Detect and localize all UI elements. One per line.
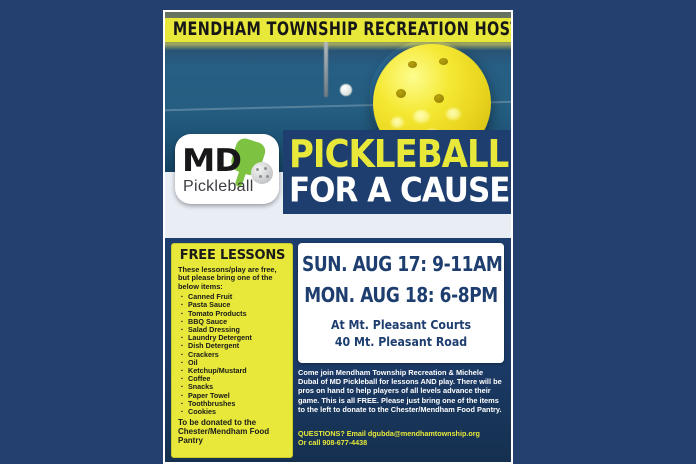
flyer-title-block: PICKLEBALL FOR A CAUSE	[283, 130, 511, 214]
hosts-banner: MENDHAM TOWNSHIP RECREATION HOSTS...	[165, 18, 511, 42]
contact-email-line: QUESTIONS? Email dgubda@mendhamtownship.…	[298, 429, 504, 438]
free-lessons-intro: These lessons/play are free, but please …	[178, 266, 287, 291]
md-pickleball-logo: MD Pickleball	[175, 134, 279, 204]
contact-phone-line: Or call 908-677-4438	[298, 438, 504, 447]
venue-name: At Mt. Pleasant Courts	[302, 317, 500, 334]
page-title: PICKLEBALL	[289, 138, 511, 173]
distant-ball-icon	[340, 84, 352, 96]
logo-initials: MD	[182, 146, 241, 177]
logo-wordmark: Pickleball	[183, 178, 254, 196]
free-lessons-heading: FREE LESSONS	[178, 249, 287, 262]
list-item: Cookies	[188, 408, 287, 416]
donation-destination: To be donated to the Chester/Mendham Foo…	[178, 418, 287, 445]
schedule-card: SUN. AUG 17: 9-11AM MON. AUG 18: 6-8PM A…	[298, 243, 504, 363]
contact-block: QUESTIONS? Email dgubda@mendhamtownship.…	[298, 429, 504, 447]
details-panel: FREE LESSONS These lessons/play are free…	[165, 238, 511, 462]
hosts-banner-text: MENDHAM TOWNSHIP RECREATION HOSTS...	[173, 18, 513, 40]
list-item: Crackers	[188, 351, 287, 359]
logo-ball-icon	[251, 162, 273, 184]
body-copy: Come join Mendham Township Recreation & …	[298, 368, 504, 414]
schedule-date-2: MON. AUG 18: 6-8PM	[302, 282, 500, 312]
donation-items-list: Canned Fruit Pasta Sauce Tomato Products…	[178, 293, 287, 416]
free-lessons-card: FREE LESSONS These lessons/play are free…	[171, 243, 293, 458]
event-flyer: MENDHAM TOWNSHIP RECREATION HOSTS... MD …	[163, 10, 513, 464]
venue-address: 40 Mt. Pleasant Road	[302, 334, 500, 351]
screenshot-canvas: MENDHAM TOWNSHIP RECREATION HOSTS... MD …	[0, 0, 696, 464]
schedule-date-1: SUN. AUG 17: 9-11AM	[302, 251, 500, 281]
page-subtitle: FOR A CAUSE	[289, 174, 511, 207]
